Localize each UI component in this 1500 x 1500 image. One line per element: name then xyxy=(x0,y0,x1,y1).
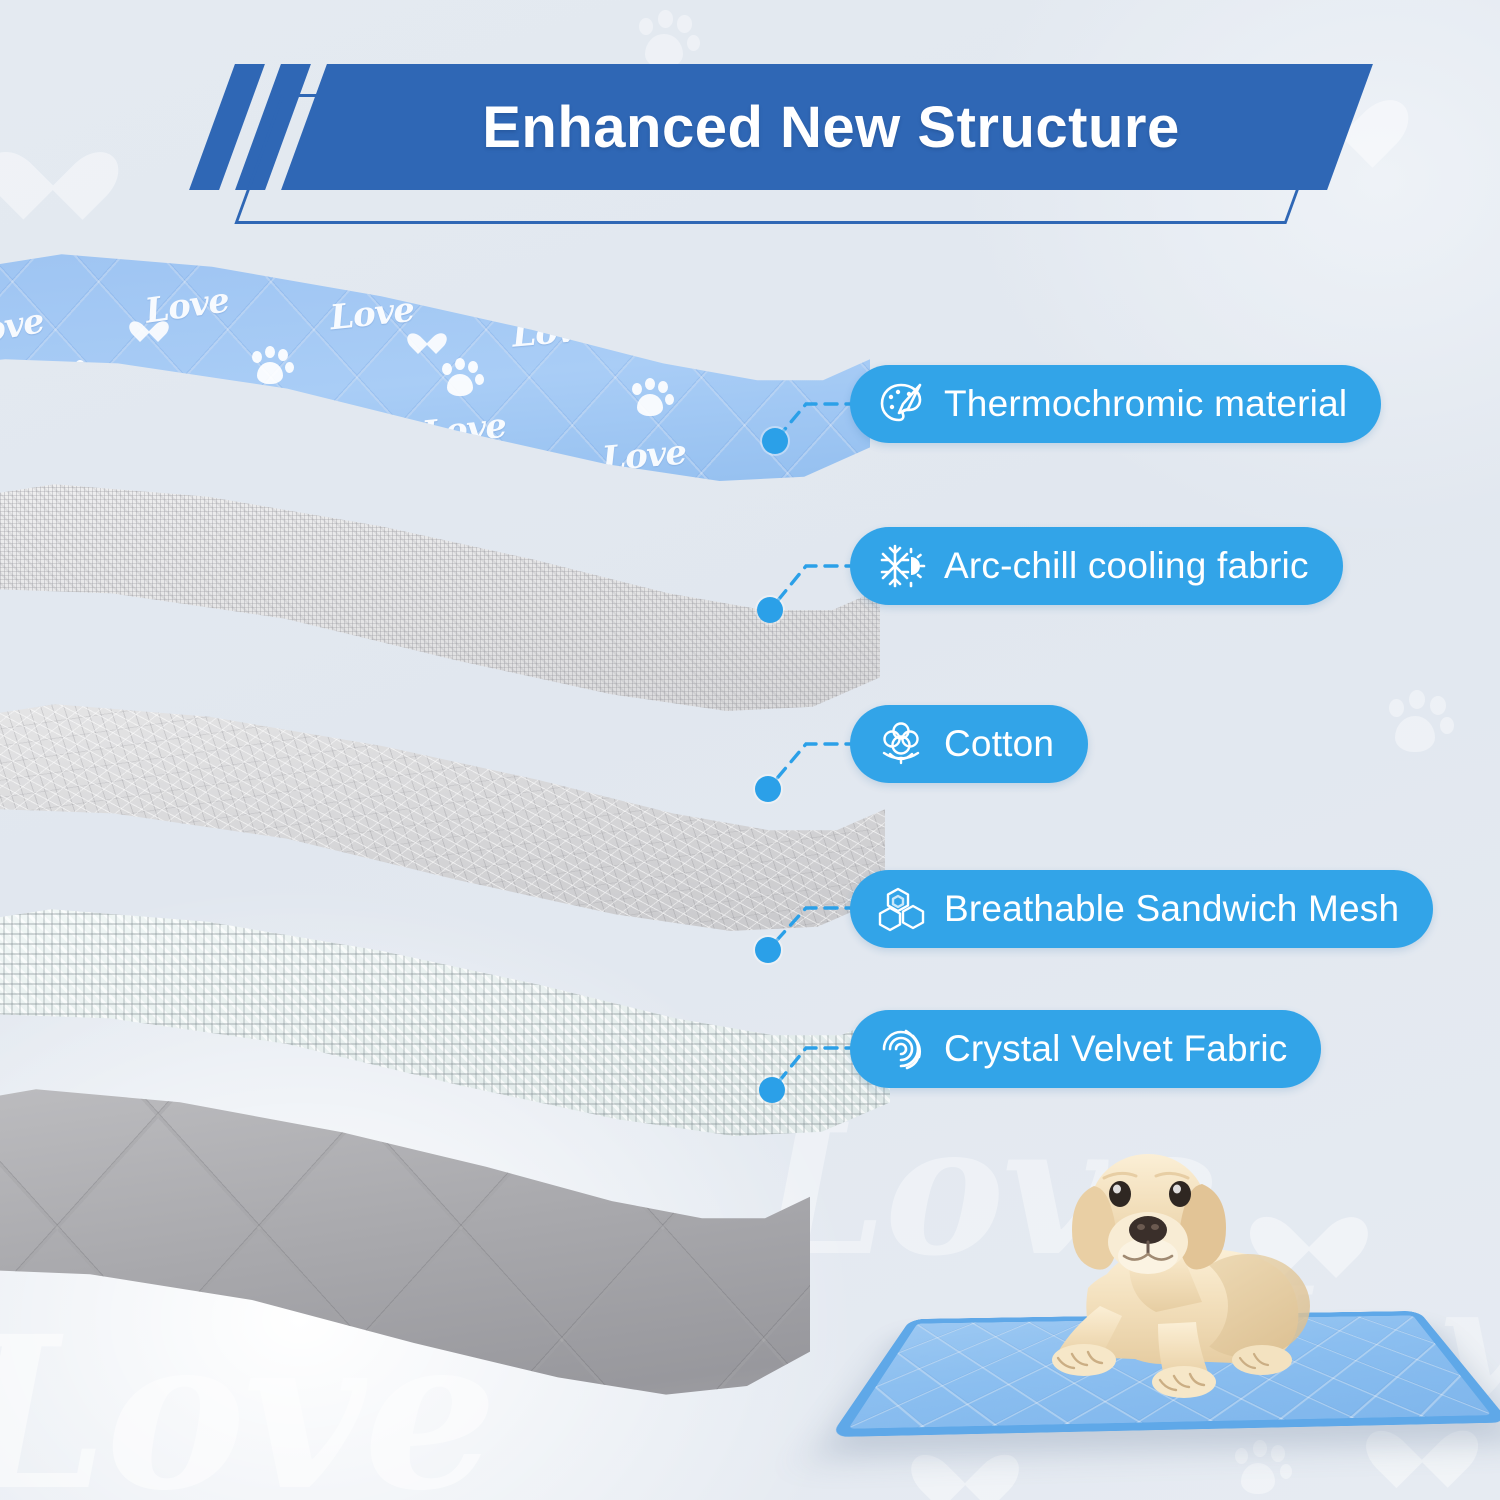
velvet-swirl-icon xyxy=(876,1024,926,1074)
heart-motif xyxy=(136,312,162,336)
honeycomb-icon xyxy=(876,884,926,934)
feature-pill-arc-chill[interactable]: Arc-chill cooling fabric xyxy=(850,527,1343,605)
heart-motif xyxy=(226,446,252,470)
paint-palette-icon xyxy=(876,379,926,429)
heart-motif xyxy=(598,500,624,524)
labrador-puppy-illustration xyxy=(980,1138,1380,1408)
heart-watermark xyxy=(10,122,96,202)
love-motif: Love xyxy=(0,515,53,569)
infographic-canvas: Love Love Love Enhanced New Structure xyxy=(0,0,1500,1500)
feature-pill-cotton[interactable]: Cotton xyxy=(850,705,1088,783)
paw-motif xyxy=(0,466,14,506)
love-motif: Love xyxy=(420,406,508,455)
love-motif: Love xyxy=(328,290,416,339)
leader-dot xyxy=(755,937,781,963)
quilt-pattern: Love Love Love Love Love Love Love Love … xyxy=(0,250,870,670)
leader-dot xyxy=(762,428,788,454)
feature-label: Thermochromic material xyxy=(944,383,1347,425)
feature-pill-thermochromic[interactable]: Thermochromic material xyxy=(850,365,1381,443)
feature-label: Arc-chill cooling fabric xyxy=(944,545,1309,587)
leader-dot xyxy=(757,597,783,623)
love-motif: Love xyxy=(233,394,322,445)
snowflake-sun-icon xyxy=(876,541,926,591)
feature-label: Crystal Velvet Fabric xyxy=(944,1028,1287,1070)
love-motif: Love xyxy=(510,308,597,355)
love-motif: Love xyxy=(0,301,47,355)
feature-label: Breathable Sandwich Mesh xyxy=(944,888,1399,930)
paw-watermark xyxy=(1385,690,1457,756)
love-motif: Love xyxy=(336,514,424,563)
product-photo xyxy=(860,1130,1480,1490)
paw-motif xyxy=(250,346,294,386)
paw-motif xyxy=(534,480,578,520)
title-banner: Enhanced New Structure xyxy=(206,58,1326,226)
feature-pill-crystal-velvet[interactable]: Crystal Velvet Fabric xyxy=(850,1010,1321,1088)
love-motif: Love xyxy=(150,502,239,553)
paw-motif xyxy=(440,358,484,398)
heart-motif xyxy=(22,580,46,602)
feature-pill-sandwich-mesh[interactable]: Breathable Sandwich Mesh xyxy=(850,870,1433,948)
love-motif: Love xyxy=(47,411,137,465)
page-title: Enhanced New Structure xyxy=(326,64,1336,190)
heart-motif xyxy=(414,324,440,348)
leader-dot xyxy=(759,1077,785,1103)
paw-motif xyxy=(156,472,200,512)
fabric-layer-thermochromic: Love Love Love Love Love Love Love Love … xyxy=(0,250,870,670)
love-motif: Love xyxy=(600,432,687,479)
paw-motif xyxy=(630,378,674,418)
leader-dot xyxy=(755,776,781,802)
cotton-boll-icon xyxy=(876,719,926,769)
paw-motif xyxy=(344,462,388,502)
feature-label: Cotton xyxy=(944,723,1054,765)
paw-motif xyxy=(60,360,104,400)
